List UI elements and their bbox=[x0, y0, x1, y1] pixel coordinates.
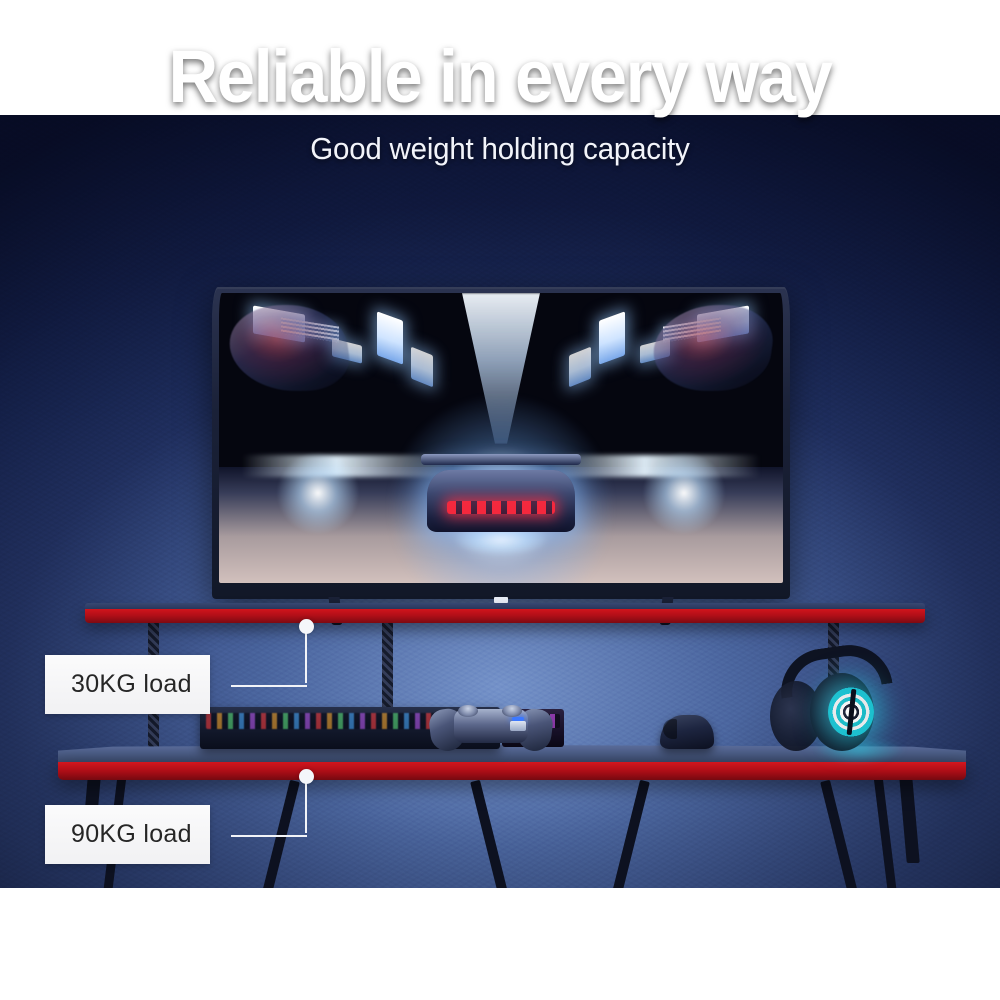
desk-leg-right bbox=[874, 777, 898, 888]
gaming-mouse bbox=[660, 715, 714, 749]
light-burst-left bbox=[275, 450, 361, 536]
callout-anchor-dot bbox=[299, 619, 314, 634]
curved-gaming-monitor bbox=[212, 287, 790, 599]
controller-touchpad bbox=[510, 721, 526, 731]
car-taillights bbox=[447, 501, 555, 514]
callout-label: 90KG load bbox=[71, 820, 192, 848]
monitor-bezel bbox=[212, 287, 790, 599]
ceiling-panel bbox=[569, 347, 591, 388]
callout-leader-line bbox=[231, 835, 307, 837]
callout-leader-riser bbox=[305, 777, 307, 833]
headline-block: Reliable in every way Good weight holdin… bbox=[0, 0, 1000, 167]
scene-photo bbox=[0, 115, 1000, 888]
monitor-screen bbox=[219, 293, 783, 583]
controller-stick-right bbox=[502, 705, 522, 717]
monitor-riser-shelf bbox=[85, 603, 925, 625]
product-marketing-image: Reliable in every way Good weight holdin… bbox=[0, 0, 1000, 1000]
ceiling-panel bbox=[599, 311, 625, 364]
light-burst-right bbox=[641, 450, 727, 536]
race-car bbox=[427, 448, 575, 540]
page-title: Reliable in every way bbox=[35, 40, 965, 114]
desk-red-edge bbox=[58, 762, 966, 780]
ceiling-panel bbox=[377, 311, 403, 364]
callout-label: 30KG load bbox=[71, 670, 192, 698]
ceiling-panel bbox=[411, 347, 433, 388]
reflected-car-left bbox=[224, 305, 354, 391]
rgb-gaming-headset bbox=[770, 643, 916, 753]
callout-box: 30KG load bbox=[45, 655, 210, 714]
callout-leader-line bbox=[231, 685, 307, 687]
reflected-car-right bbox=[648, 305, 778, 391]
shelf-red-edge bbox=[85, 609, 925, 623]
car-rear-wing bbox=[421, 454, 581, 465]
controller-stick-left bbox=[458, 705, 478, 717]
page-subtitle: Good weight holding capacity bbox=[25, 131, 975, 167]
callout-90kg: 90KG load bbox=[45, 805, 210, 864]
callout-anchor-dot bbox=[299, 769, 314, 784]
callout-box: 90KG load bbox=[45, 805, 210, 864]
callout-leader-riser bbox=[305, 627, 307, 683]
mouse-button bbox=[663, 719, 677, 739]
callout-30kg: 30KG load bbox=[45, 655, 210, 714]
desk-leg-right bbox=[899, 777, 920, 863]
desk-leg-angled bbox=[470, 780, 535, 888]
desk-leg-angled bbox=[585, 780, 650, 888]
game-controller bbox=[428, 701, 554, 751]
